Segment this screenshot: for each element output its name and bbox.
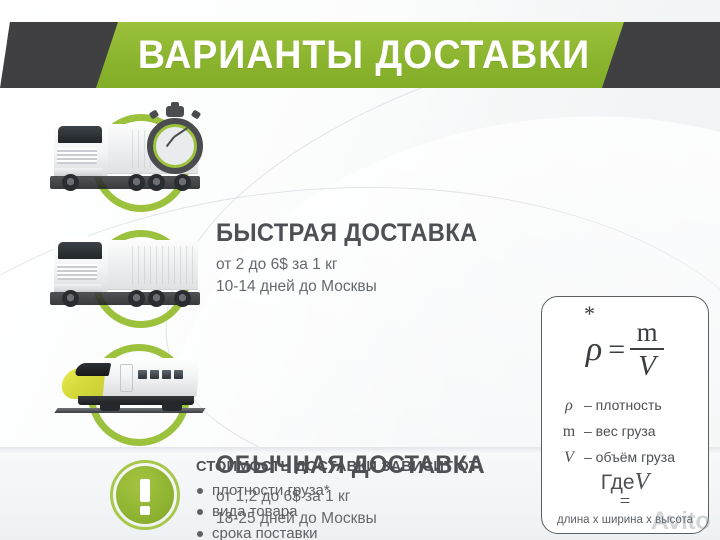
truck-illustration: [46, 234, 204, 314]
delivery-option-fast: БЫСТРАЯ ДОСТАВКА от 2 до 6$ за 1 кг 10-1…: [0, 104, 560, 209]
formula-fraction: m V: [630, 319, 664, 381]
delivery-option-regular: ОБЫЧНАЯ ДОСТАВКА от 1,2 до 6$ за 1 кг 18…: [0, 220, 560, 325]
list-item: плотности груза*: [196, 480, 492, 501]
legend-row-m: m – вес груза: [558, 419, 706, 445]
list-item: вида товара: [196, 501, 492, 522]
formula-equals-sign: =: [608, 333, 625, 367]
density-formula-card: * ρ = m V ρ – плотность m – вес груза V …: [541, 296, 709, 534]
train-icon: [40, 336, 210, 441]
truck-with-stopwatch-icon: [40, 104, 210, 209]
legend-row-v: V – объём груза: [558, 445, 706, 471]
header-banner: ВАРИАНТЫ ДОСТАВКИ: [0, 22, 720, 88]
where-equals-sign: =: [542, 495, 708, 509]
cost-factors-block: СТОИМОСТЬ ДОСТАВКИ ЗАВИСИТ ОТ: плотности…: [196, 458, 492, 540]
stopwatch-icon: [144, 106, 206, 168]
where-symbol-v: V: [635, 469, 650, 495]
formula-legend: ρ – плотность m – вес груза V – объём гр…: [558, 393, 706, 471]
delivery-options-poster: ВАРИАНТЫ ДОСТАВКИ: [0, 0, 720, 540]
legend-row-rho: ρ – плотность: [558, 393, 706, 419]
formula-rho-symbol: ρ: [586, 331, 602, 369]
legend-symbol-v: V: [558, 445, 580, 471]
cost-factors-title: СТОИМОСТЬ ДОСТАВКИ ЗАВИСИТ ОТ:: [196, 458, 483, 475]
legend-text-m: – вес груза: [580, 420, 656, 443]
legend-text-rho: – плотность: [580, 394, 662, 417]
formula-denominator: V: [638, 350, 656, 381]
exclamation-mark-icon: [110, 460, 180, 530]
list-item: срока поставки: [196, 523, 492, 540]
legend-symbol-m: m: [558, 419, 580, 445]
volume-formula-text: длина х ширина х высота: [542, 514, 708, 526]
delivery-option-rail: Ж/Д ДОСТАВКА от 1,5 до 3,5$ за 1 кг: [0, 336, 560, 436]
legend-symbol-rho: ρ: [558, 393, 580, 419]
formula-numerator: m: [637, 319, 658, 348]
cost-factors-list: плотности груза* вида товара срока поста…: [196, 480, 492, 540]
legend-text-v: – объём груза: [580, 446, 675, 469]
truck-icon: [40, 220, 210, 325]
volume-definition: ГдеV = длина х ширина х высота: [542, 469, 708, 526]
density-formula: ρ = m V: [542, 317, 708, 383]
train-illustration: [56, 354, 204, 426]
page-title: ВАРИАНТЫ ДОСТАВКИ: [82, 22, 646, 88]
